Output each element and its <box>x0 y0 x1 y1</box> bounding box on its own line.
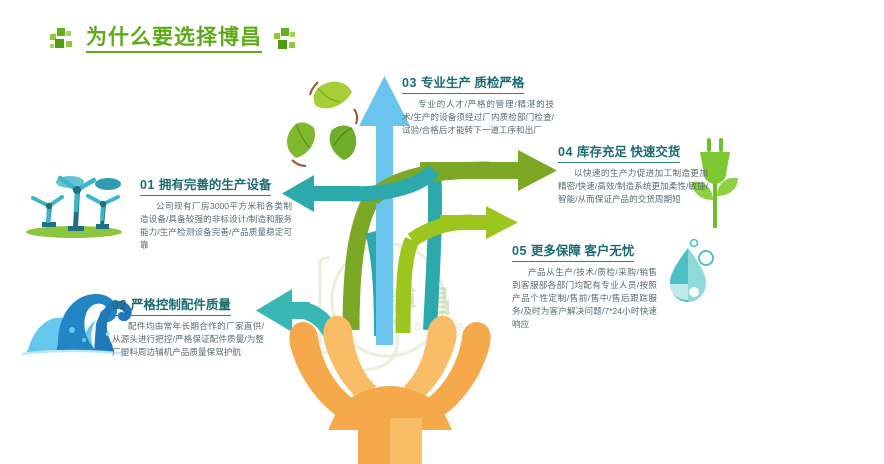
block-02-number: 02 <box>112 298 127 312</box>
block-02-body: 配件均由常年长期合作的厂家直供/从源头进行把控/严格保证配件质量/为整厂塑料周边… <box>112 320 264 359</box>
block-05-body: 产品从生产/技术/质检/采购/销售到客服部各部门均配有专业人员/按照产品个性定制… <box>512 266 657 331</box>
block-04-body: 以快速的生产力促进加工制造更加精密/快速/高效/制造系统更加柔性/敏捷/智能/从… <box>558 167 708 206</box>
block-05-number: 05 <box>512 244 527 258</box>
block-03-title: 专业生产 质检严格 <box>421 76 524 90</box>
content-block-04: 04库存充足 快速交货 以快速的生产力促进加工制造更加精密/快速/高效/制造系统… <box>558 143 708 206</box>
block-01-title: 拥有完善的生产设备 <box>159 178 272 192</box>
block-04-heading: 04库存充足 快速交货 <box>558 145 680 163</box>
block-05-heading: 05更多保障 客户无忧 <box>512 244 634 262</box>
content-block-03: 03专业生产 质检严格 专业的人才/严格的管理/精湛的技术/生产的设备须经过厂内… <box>402 74 554 137</box>
block-03-number: 03 <box>402 76 417 90</box>
block-05-title: 更多保障 客户无忧 <box>531 244 634 258</box>
block-01-number: 01 <box>140 178 155 192</box>
content-block-01: 01拥有完善的生产设备 公司现有厂房3000平方米和各类制造设备/具备较强的非标… <box>140 176 292 252</box>
content-block-05: 05更多保障 客户无忧 产品从生产/技术/质检/采购/销售到客服部各部门均配有专… <box>512 242 657 331</box>
block-02-title: 严格控制配件质量 <box>131 298 231 312</box>
block-01-body: 公司现有厂房3000平方米和各类制造设备/具备较强的非标设计/制造和服务能力/生… <box>140 200 292 252</box>
block-02-heading: 02严格控制配件质量 <box>112 298 231 316</box>
infographic-canvas: 为什么要选择博昌 博昌 BO CHANG <box>0 0 884 464</box>
content-block-02: 02严格控制配件质量 配件均由常年长期合作的厂家直供/从源头进行把控/严格保证配… <box>112 296 264 359</box>
water-drop-icon <box>0 0 884 464</box>
block-04-number: 04 <box>558 145 573 159</box>
block-04-title: 库存充足 快速交货 <box>577 145 680 159</box>
block-01-heading: 01拥有完善的生产设备 <box>140 178 271 196</box>
block-03-heading: 03专业生产 质检严格 <box>402 76 524 94</box>
block-03-body: 专业的人才/严格的管理/精湛的技术/生产的设备须经过厂内质检部门检查/试验/合格… <box>402 98 554 137</box>
